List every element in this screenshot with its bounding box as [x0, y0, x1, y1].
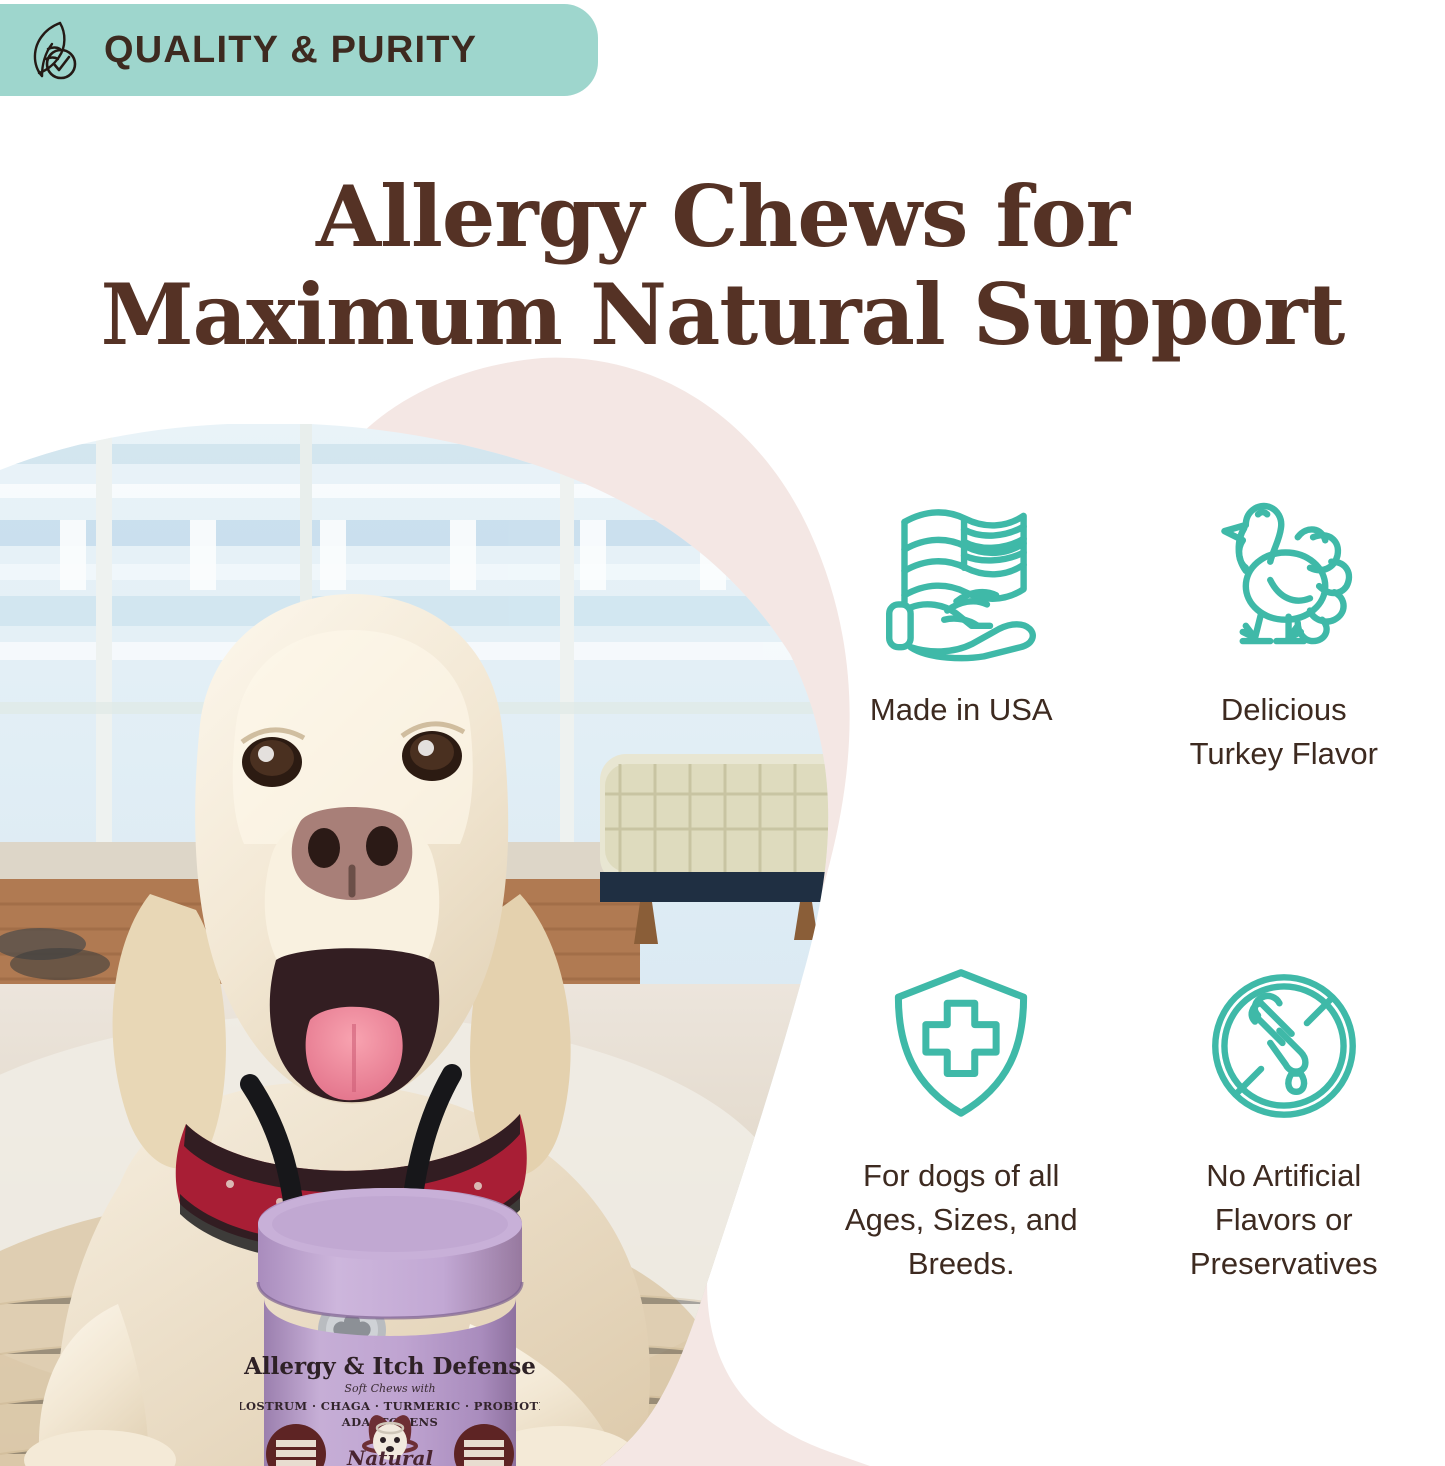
quality-purity-banner: QUALITY & PURITY	[0, 4, 598, 96]
feature-label-line: For dogs of all	[845, 1154, 1078, 1198]
flag-in-hand-icon	[877, 494, 1045, 666]
turkey-icon	[1200, 494, 1368, 666]
feature-label: Delicious Turkey Flavor	[1190, 688, 1378, 776]
feature-label-line: Made in USA	[870, 688, 1053, 732]
product-marketing-image: Allergy & Itch Defense Soft Chews with C…	[0, 0, 1445, 1466]
feature-label-line: Delicious	[1190, 688, 1378, 732]
headline-line-1: Allergy Chews for	[0, 173, 1445, 260]
feature-label-line: Preservatives	[1190, 1242, 1378, 1286]
feature-label: Made in USA	[870, 688, 1053, 732]
feature-label-line: No Artificial	[1190, 1154, 1378, 1198]
shield-medical-cross-icon	[877, 960, 1045, 1132]
jar-ingredients: COLOSTRUM · CHAGA · TURMERIC · PROBIOTIC…	[240, 1399, 540, 1413]
feature-label: For dogs of all Ages, Sizes, and Breeds.	[845, 1154, 1078, 1286]
feature-label-line: Flavors or	[1190, 1198, 1378, 1242]
feature-label-line: Turkey Flavor	[1190, 732, 1378, 776]
jar-subtitle: Soft Chews with	[344, 1382, 435, 1395]
banner-label: QUALITY & PURITY	[104, 29, 477, 72]
product-jar: Allergy & Itch Defense Soft Chews with C…	[240, 1178, 540, 1466]
feature-made-in-usa: Made in USA	[800, 486, 1123, 886]
feature-label-line: Ages, Sizes, and	[845, 1198, 1078, 1242]
jar-brand: Natural	[346, 1446, 434, 1466]
jar-title: Allergy & Itch Defense	[243, 1353, 536, 1380]
page-headline: Allergy Chews for Maximum Natural Suppor…	[0, 173, 1445, 358]
feather-check-icon	[26, 19, 82, 81]
feature-label-line: Breeds.	[845, 1242, 1078, 1286]
feature-turkey-flavor: Delicious Turkey Flavor	[1123, 486, 1445, 886]
feature-no-artificial: No Artificial Flavors or Preservatives	[1123, 886, 1445, 1286]
feature-all-dogs: For dogs of all Ages, Sizes, and Breeds.	[800, 886, 1123, 1286]
headline-line-2: Maximum Natural Support	[0, 271, 1445, 358]
feature-label: No Artificial Flavors or Preservatives	[1190, 1154, 1378, 1286]
no-dropper-icon	[1200, 960, 1368, 1132]
feature-grid: Made in USA	[800, 486, 1445, 1286]
